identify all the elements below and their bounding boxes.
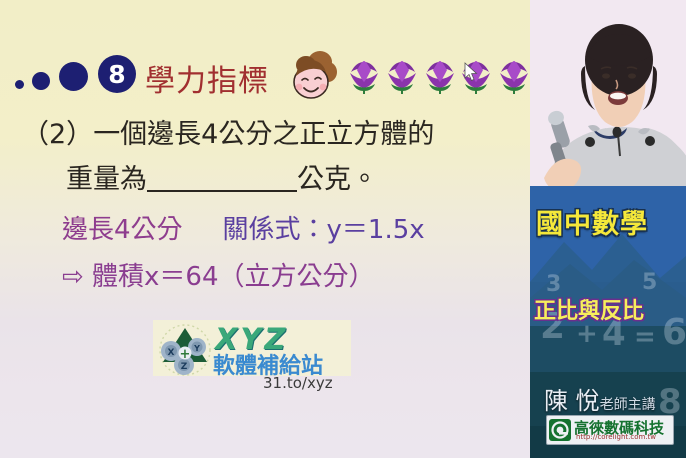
bullet-dot-large — [59, 62, 88, 91]
lesson-screen: 8 學力指標 — [0, 0, 686, 458]
answer-blank[interactable] — [147, 168, 297, 192]
flower-icon — [424, 60, 456, 94]
flower-decoration-row — [348, 58, 533, 98]
slide-header: 8 學力指標 — [14, 50, 526, 102]
section-title: 學力指標 — [145, 56, 269, 100]
girl-face-mascot-icon — [286, 48, 340, 102]
solution-given: 邊長4公分 — [62, 215, 183, 245]
question-line-2-suffix: 公克。 — [297, 164, 378, 195]
lecturer-name: 陳 悅 — [544, 387, 600, 415]
solution-line-1: 邊長4公分關係式：y＝1.5x — [62, 208, 522, 255]
svg-text:Y: Y — [193, 344, 200, 353]
flower-icon — [498, 60, 530, 94]
svg-text:+: + — [180, 347, 191, 362]
solution-volume: ⇨ 體積x＝64（立方公分） — [62, 262, 375, 292]
question-block: （2）一個邊長4公分之正立方體的 重量為公克。 — [22, 112, 522, 202]
question-number: （2） — [22, 119, 93, 150]
course-title: 國中數學 — [536, 202, 686, 241]
question-line-2: 重量為公克。 — [22, 157, 522, 202]
solution-block: 邊長4公分關係式：y＝1.5x ⇨ 體積x＝64（立方公分） — [62, 208, 522, 302]
slide-canvas: 8 學力指標 — [0, 0, 530, 458]
xyz-watermark: X Y Z + XYZ 軟體補給站 31.to/xyz — [153, 320, 351, 394]
flower-icon — [348, 60, 380, 94]
right-sidebar: 2 + 4 = 6 8 3 5 國中數學 正比與反比 陳 悅老師主講 高徠數碼科… — [530, 0, 686, 458]
bullet-dot-medium — [32, 72, 50, 90]
mouse-pointer-arrow-icon — [464, 62, 478, 82]
flower-icon — [386, 60, 418, 94]
xyz-url-text: 31.to/xyz — [263, 374, 333, 392]
question-line-1-text: 一個邊長4公分之正立方體的 — [93, 119, 434, 150]
xyz-watermark-box: X Y Z + XYZ 軟體補給站 — [153, 320, 351, 376]
publisher-url: http://corelight.com.tw — [576, 433, 656, 441]
course-subtitle: 正比與反比 — [534, 293, 686, 325]
publisher-logo[interactable]: 高徠數碼科技 http://corelight.com.tw — [546, 415, 674, 445]
teacher-illustration — [530, 0, 686, 188]
bullet-dot-small — [15, 80, 24, 89]
course-title-card: 2 + 4 = 6 8 3 5 國中數學 正比與反比 陳 悅老師主講 高徠數碼科… — [530, 186, 686, 458]
corelight-logo-icon — [549, 419, 571, 441]
solution-relation: 關係式：y＝1.5x — [223, 215, 425, 245]
xyz-subtitle-text: 軟體補給站 — [213, 348, 323, 376]
question-line-2-prefix: 重量為 — [66, 164, 147, 195]
section-number-badge: 8 — [98, 55, 136, 93]
lecturer-role: 老師主講 — [600, 397, 656, 413]
teacher-video-feed[interactable] — [530, 0, 686, 188]
lecturer-credit: 陳 悅老師主講 — [544, 381, 656, 416]
svg-text:Z: Z — [181, 362, 188, 372]
xyz-globe-icon: X Y Z + — [157, 322, 213, 376]
svg-text:X: X — [168, 348, 175, 358]
solution-line-2: ⇨ 體積x＝64（立方公分） — [62, 255, 522, 302]
question-line-1: （2）一個邊長4公分之正立方體的 — [22, 112, 522, 157]
